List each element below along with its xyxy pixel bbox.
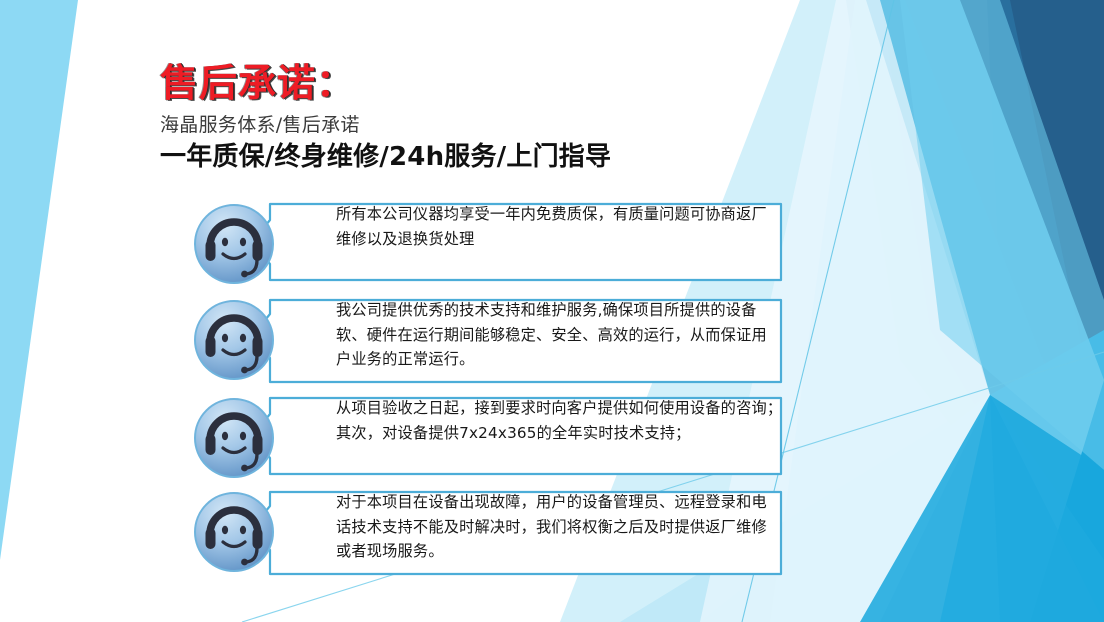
- callout-bubble: 从项目验收之日起，接到要求时向客户提供如何使用设备的咨询； 其次，对设备提供7x…: [248, 396, 783, 476]
- headset-operator-icon: [192, 202, 276, 286]
- headset-operator-icon: [192, 490, 276, 574]
- headset-operator-icon: [192, 298, 276, 382]
- callout-text: 所有本公司仪器均享受一年内免费质保，有质量问题可协商返厂 维修以及退换货处理: [336, 202, 828, 251]
- callout-bubble: 我公司提供优秀的技术支持和维护服务,确保项目所提供的设备 软、硬件在运行期间能够…: [248, 298, 783, 384]
- callout-list: 所有本公司仪器均享受一年内免费质保，有质量问题可协商返厂 维修以及退换货处理: [0, 0, 1104, 622]
- headset-operator-icon: [192, 396, 276, 480]
- slide-canvas: 售后承诺： 海晶服务体系/售后承诺 一年质保/终身维修/24h服务/上门指导 所…: [0, 0, 1104, 622]
- callout-bubble: 所有本公司仪器均享受一年内免费质保，有质量问题可协商返厂 维修以及退换货处理: [248, 202, 783, 282]
- callout-text: 对于本项目在设备出现故障，用户的设备管理员、远程登录和电 话技术支持不能及时解决…: [336, 490, 828, 564]
- callout-text: 我公司提供优秀的技术支持和维护服务,确保项目所提供的设备 软、硬件在运行期间能够…: [336, 298, 828, 372]
- callout-bubble: 对于本项目在设备出现故障，用户的设备管理员、远程登录和电 话技术支持不能及时解决…: [248, 490, 783, 576]
- callout-text: 从项目验收之日起，接到要求时向客户提供如何使用设备的咨询； 其次，对设备提供7x…: [336, 396, 828, 445]
